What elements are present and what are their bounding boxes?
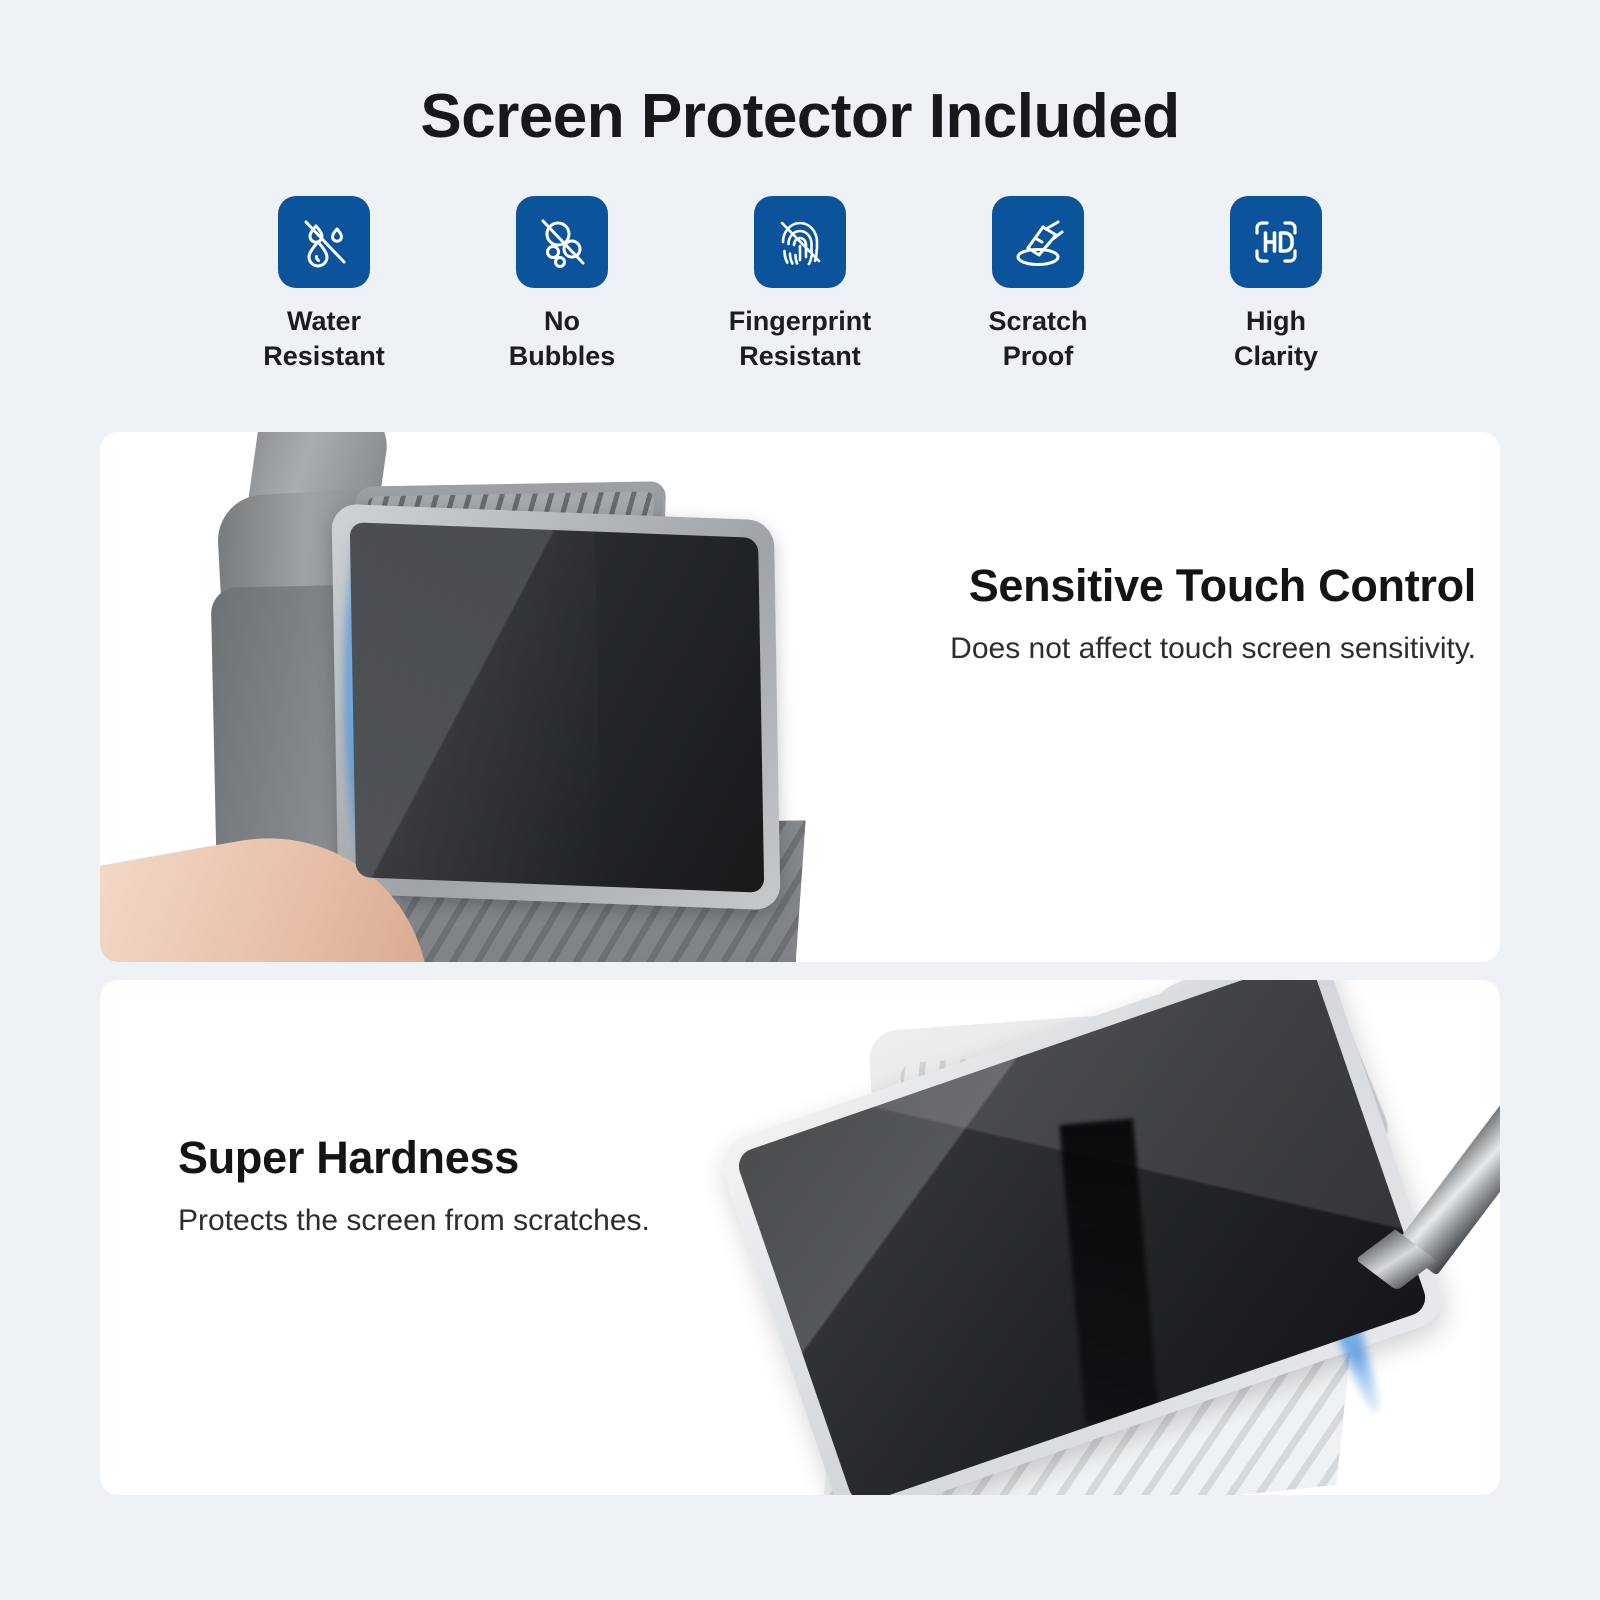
feature-high-clarity: High Clarity xyxy=(1206,196,1346,374)
feature-tile-water xyxy=(278,196,370,288)
water-drop-slash-icon xyxy=(294,212,354,272)
fingerprint-slash-icon xyxy=(770,212,830,272)
hardness-text-block: Super Hardness Protects the screen from … xyxy=(178,1132,650,1238)
hardness-panel-title: Super Hardness xyxy=(178,1132,650,1184)
feature-water-resistant: Water Resistant xyxy=(254,196,394,374)
blade-scratch-icon xyxy=(1008,212,1068,272)
feature-tile-bubbles xyxy=(516,196,608,288)
feature-no-bubbles: No Bubbles xyxy=(492,196,632,374)
device-touchscreen xyxy=(350,522,765,893)
chisel-tool xyxy=(1395,1029,1500,1276)
hd-frame-icon xyxy=(1246,212,1306,272)
touch-text-block: Sensitive Touch Control Does not affect … xyxy=(950,560,1476,666)
feature-label-fingerprint: Fingerprint Resistant xyxy=(729,304,872,374)
feature-label-water: Water Resistant xyxy=(263,304,385,374)
hardness-panel-subtitle: Protects the screen from scratches. xyxy=(178,1204,650,1238)
feature-label-clarity: High Clarity xyxy=(1234,304,1318,374)
bubbles-slash-icon xyxy=(532,212,592,272)
touch-panel-subtitle: Does not affect touch screen sensitivity… xyxy=(950,632,1476,666)
feature-tile-hd xyxy=(1230,196,1322,288)
feature-fingerprint-resistant: Fingerprint Resistant xyxy=(730,196,870,374)
feature-label-bubbles: No Bubbles xyxy=(509,304,616,374)
panel-super-hardness: Super Hardness Protects the screen from … xyxy=(100,980,1500,1495)
feature-label-scratch: Scratch Proof xyxy=(988,304,1087,374)
panel-sensitive-touch-control: Sensitive Touch Control Does not affect … xyxy=(100,432,1500,962)
touch-panel-title: Sensitive Touch Control xyxy=(950,560,1476,612)
feature-scratch-proof: Scratch Proof xyxy=(968,196,1108,374)
product-photo-touch xyxy=(100,432,1500,962)
feature-strip: Water Resistant No Bubbles xyxy=(0,196,1600,374)
feature-tile-fingerprint xyxy=(754,196,846,288)
feature-tile-scratch xyxy=(992,196,1084,288)
page-title: Screen Protector Included xyxy=(0,0,1600,148)
